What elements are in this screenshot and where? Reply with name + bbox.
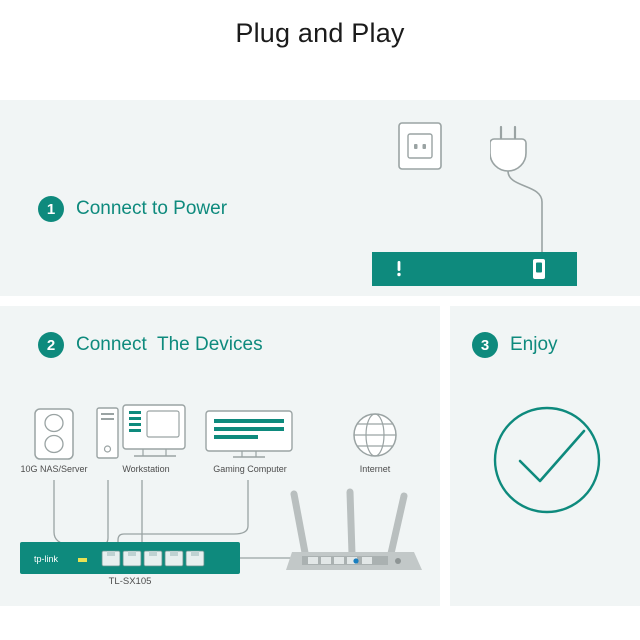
switch-model-label: TL-SX105	[75, 576, 185, 587]
step-1-label: Connect to Power	[76, 198, 227, 220]
step-3-label: Enjoy	[510, 334, 558, 356]
svg-text:tp-link: tp-link	[34, 554, 59, 564]
step-2-label: Connect The Devices	[76, 334, 263, 356]
page-title: Plug and Play	[0, 18, 640, 49]
workstation-icon	[96, 404, 186, 460]
globe-icon	[352, 412, 398, 458]
nas-server-icon	[34, 408, 74, 460]
power-outlet-icon	[398, 122, 442, 170]
tplink-switch: tp-link	[20, 542, 240, 574]
device-label-internet: Internet	[338, 464, 412, 474]
plug-and-play-infographic: Plug and Play 1 Connect to Power	[0, 0, 640, 640]
step-2-header: 2 Connect The Devices	[38, 332, 263, 358]
exclamation-icon	[394, 260, 404, 278]
gaming-computer-icon	[205, 410, 293, 460]
device-label-gaming: Gaming Computer	[200, 464, 300, 474]
power-adapter-icon	[532, 258, 546, 280]
wifi-router-icon	[286, 488, 426, 574]
step-3-header: 3 Enjoy	[472, 332, 558, 358]
step-1-header: 1 Connect to Power	[38, 196, 227, 222]
power-device-bar	[372, 252, 577, 286]
step-3-number: 3	[472, 332, 498, 358]
check-circle-icon	[492, 405, 602, 515]
device-label-workstation: Workstation	[98, 464, 194, 474]
step-2-number: 2	[38, 332, 64, 358]
device-label-nas: 10G NAS/Server	[4, 464, 104, 474]
step-1-number: 1	[38, 196, 64, 222]
